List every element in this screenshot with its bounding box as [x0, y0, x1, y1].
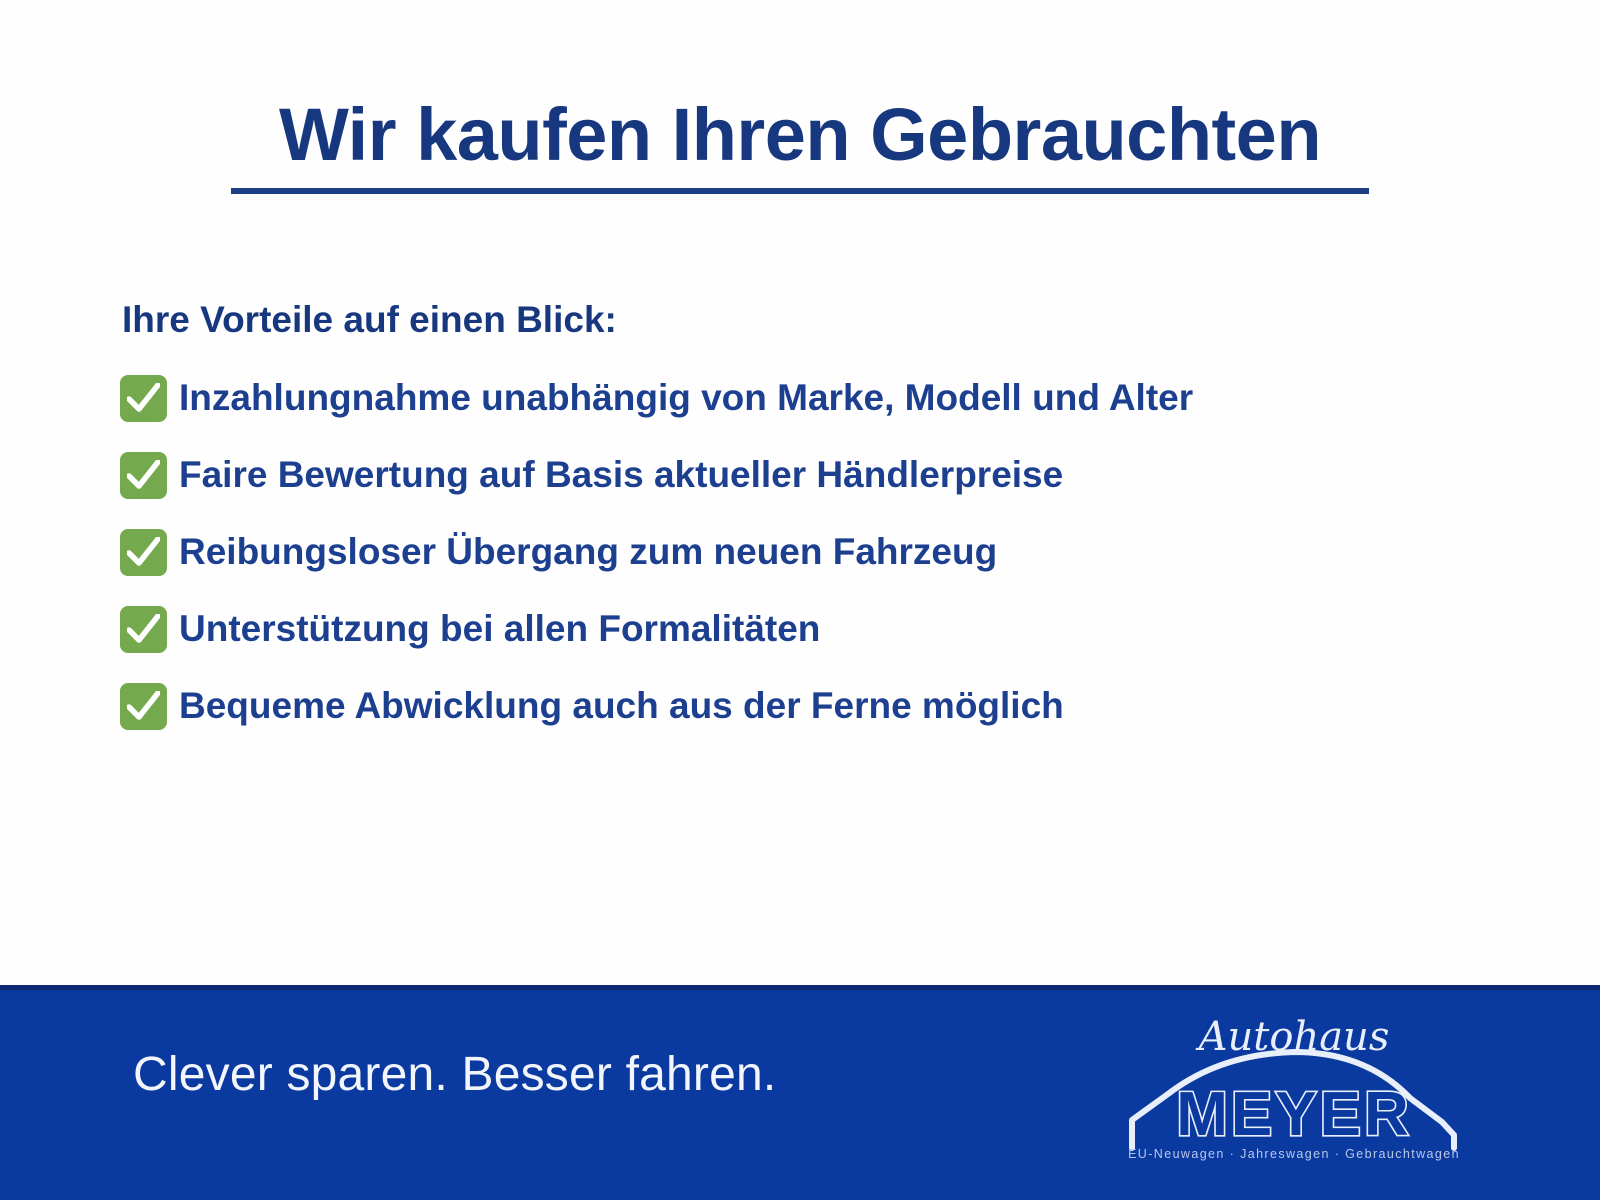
footer-slogan: Clever sparen. Besser fahren.: [133, 1047, 776, 1102]
list-item-label: Unterstützung bei allen Formalitäten: [179, 608, 820, 651]
list-item: Faire Bewertung auf Basis aktueller Händ…: [120, 447, 1520, 503]
promo-poster: Wir kaufen Ihren Gebrauchten Ihre Vortei…: [0, 0, 1600, 1200]
footer-banner: Clever sparen. Besser fahren. Autohaus M…: [0, 985, 1600, 1200]
title-underline-rule: [231, 188, 1369, 194]
list-item: Bequeme Abwicklung auch aus der Ferne mö…: [120, 678, 1520, 734]
check-mark-icon: [120, 375, 167, 422]
benefits-heading: Ihre Vorteile auf einen Blick:: [122, 298, 1520, 342]
headline-text: Wir kaufen Ihren Gebrauchten: [275, 96, 1325, 174]
logo-tagline-text: EU-Neuwagen · Jahreswagen · Gebrauchtwag…: [1128, 1147, 1460, 1161]
check-mark-icon: [120, 452, 167, 499]
list-item-label: Reibungsloser Übergang zum neuen Fahrzeu…: [179, 531, 997, 574]
check-mark-icon: [120, 606, 167, 653]
list-item: Reibungsloser Übergang zum neuen Fahrzeu…: [120, 524, 1520, 580]
check-mark-icon: [120, 683, 167, 730]
list-item: Inzahlungnahme unabhängig von Marke, Mod…: [120, 370, 1520, 426]
check-mark-icon: [120, 529, 167, 576]
list-item-label: Bequeme Abwicklung auch aus der Ferne mö…: [179, 685, 1064, 728]
list-item-label: Inzahlungnahme unabhängig von Marke, Mod…: [179, 377, 1193, 420]
benefits-section: Ihre Vorteile auf einen Blick: Inzahlung…: [120, 298, 1520, 755]
list-item-label: Faire Bewertung auf Basis aktueller Händ…: [179, 454, 1063, 497]
page-title: Wir kaufen Ihren Gebrauchten: [0, 96, 1600, 194]
list-item: Unterstützung bei allen Formalitäten: [120, 601, 1520, 657]
logo-brand-text: MEYER: [1176, 1080, 1411, 1149]
logo-script-text: Autohaus: [1195, 1014, 1390, 1060]
dealer-logo: Autohaus MEYER EU-Neuwagen · Jahreswagen…: [1124, 1002, 1464, 1167]
